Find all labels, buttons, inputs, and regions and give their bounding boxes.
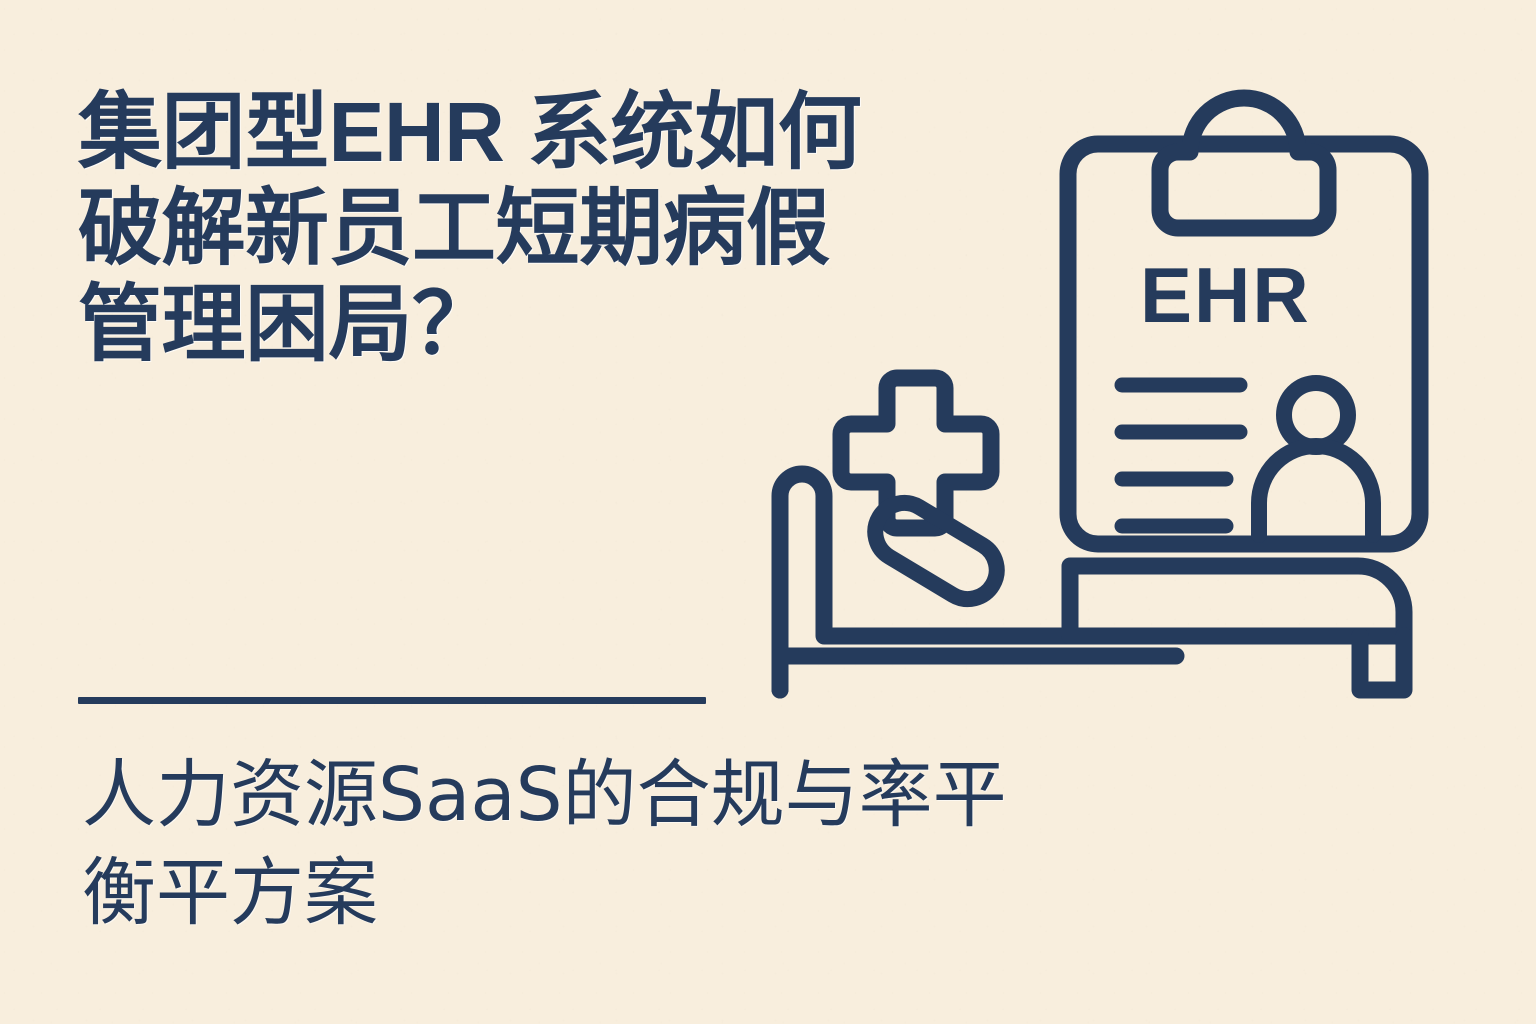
subtitle-line-1: 人力资源SaaS的合规与率平 xyxy=(82,746,1342,844)
clipboard-clip xyxy=(1160,98,1328,228)
subtitle-line-2: 衡平方案 xyxy=(82,844,1342,942)
person-icon xyxy=(1259,383,1373,535)
bed-base-rail xyxy=(780,656,1176,690)
poster-canvas: 集团型EHR 系统如何 破解新员工短期病假 管理困局？ 人力资源SaaS的合规与… xyxy=(0,0,1536,1024)
bed-mattress xyxy=(1070,566,1404,636)
illustration-group: EHR xyxy=(740,60,1480,730)
section-divider xyxy=(78,697,706,704)
clipboard-icon: EHR xyxy=(1068,98,1420,544)
person-body xyxy=(1259,446,1373,535)
clipboard-label-ehr: EHR xyxy=(1140,251,1311,339)
page-subtitle: 人力资源SaaS的合规与率平 衡平方案 xyxy=(82,746,1342,942)
person-head xyxy=(1284,383,1348,447)
hospital-bed-icon xyxy=(780,474,1404,690)
bed-pillow xyxy=(864,492,1007,610)
